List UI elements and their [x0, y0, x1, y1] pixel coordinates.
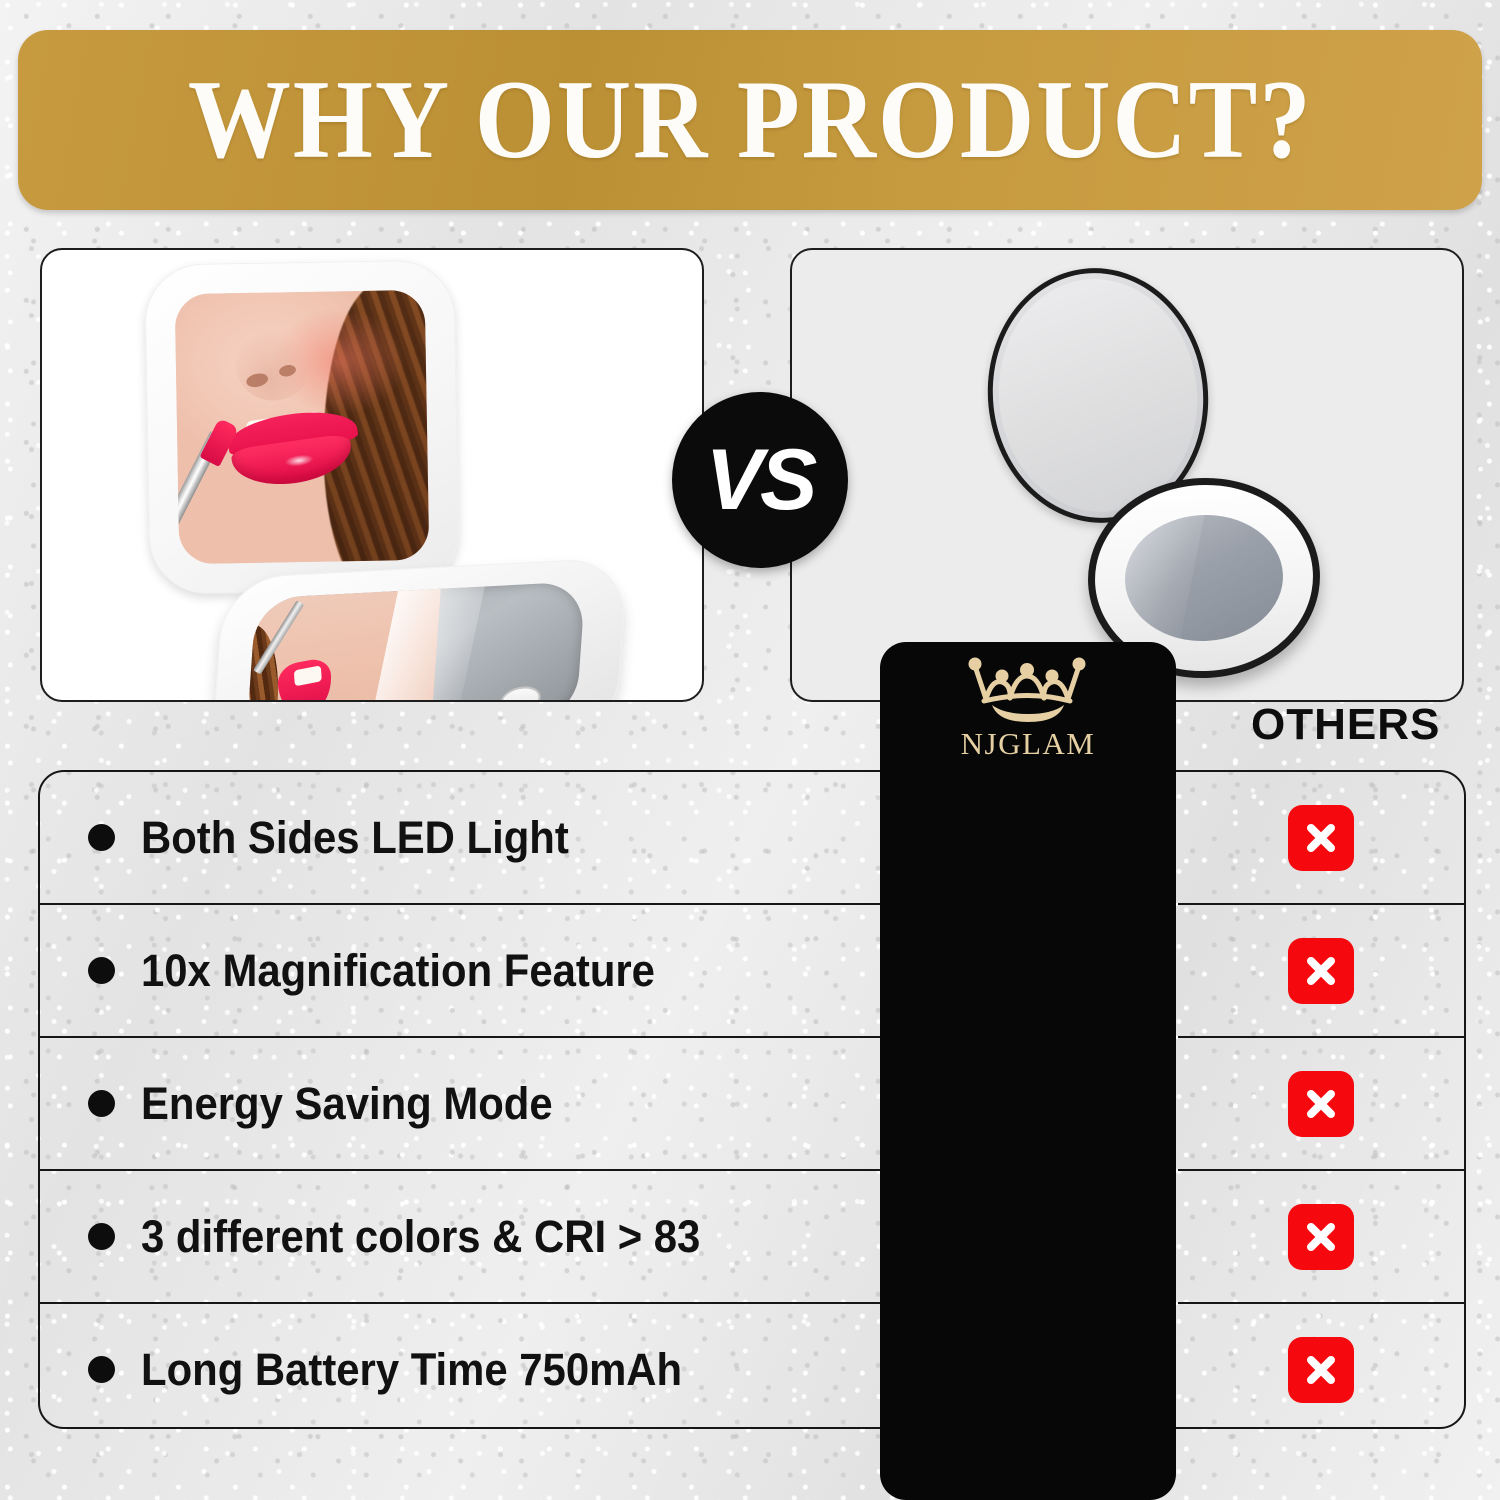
feature-label: Both Sides LED Light — [141, 812, 569, 864]
competitor-glass-glare — [1122, 511, 1206, 645]
feature-label: 10x Magnification Feature — [141, 945, 655, 997]
competitor-product-card — [790, 248, 1464, 702]
page-title: WHY OUR PRODUCT? — [188, 64, 1313, 176]
feature-label: Energy Saving Mode — [141, 1078, 553, 1130]
header-banner: WHY OUR PRODUCT? — [18, 30, 1482, 210]
versus-label: VS — [706, 437, 815, 523]
feature-cell: 3 different colors & CRI > 83 — [40, 1211, 840, 1263]
bullet-dot-icon — [88, 1223, 115, 1250]
mirror-base — [211, 557, 628, 702]
table-row: 3 different colors & CRI > 83 — [40, 1171, 1464, 1304]
cross-icon — [1288, 1204, 1354, 1270]
versus-badge: VS — [672, 392, 848, 568]
cross-icon — [1288, 805, 1354, 871]
theirs-cell — [1178, 1071, 1464, 1137]
theirs-cell — [1178, 1204, 1464, 1270]
brand-column-ours: NJGLAM — [880, 642, 1176, 1500]
face-lips — [227, 413, 358, 483]
cross-icon — [1288, 1071, 1354, 1137]
mirror-lid-glass — [175, 290, 430, 564]
crown-icon — [962, 652, 1094, 724]
table-row: Long Battery Time 750mAh — [40, 1304, 1464, 1435]
cross-icon — [1288, 938, 1354, 1004]
table-row: Energy Saving Mode — [40, 1038, 1464, 1171]
bullet-dot-icon — [88, 1090, 115, 1117]
theirs-cell — [1178, 1337, 1464, 1403]
infographic-page: WHY OUR PRODUCT? — [0, 0, 1500, 1500]
others-column-label: OTHERS — [1251, 700, 1471, 750]
bullet-dot-icon — [88, 824, 115, 851]
brand-column-header: NJGLAM — [880, 642, 1176, 772]
comparison-table: Both Sides LED Light 10x Magnification F… — [38, 770, 1466, 1429]
bullet-dot-icon — [88, 957, 115, 984]
feature-cell: 10x Magnification Feature — [40, 945, 840, 997]
reflected-face — [175, 290, 430, 564]
feature-cell: Both Sides LED Light — [40, 812, 840, 864]
brand-name: NJGLAM — [961, 726, 1096, 762]
competitor-base-glass — [1122, 511, 1286, 645]
mirror-lid — [144, 259, 460, 594]
our-product-illustration — [42, 250, 702, 700]
feature-label: 3 different colors & CRI > 83 — [141, 1211, 700, 1263]
feature-label: Long Battery Time 750mAh — [141, 1344, 682, 1396]
theirs-cell — [1178, 938, 1464, 1004]
feature-cell: Energy Saving Mode — [40, 1078, 840, 1130]
theirs-cell — [1178, 805, 1464, 871]
feature-cell: Long Battery Time 750mAh — [40, 1344, 840, 1396]
competitor-illustration — [792, 250, 1462, 700]
mirror-base-glass — [246, 581, 585, 702]
table-row: 10x Magnification Feature — [40, 905, 1464, 1038]
table-row: Both Sides LED Light — [40, 772, 1464, 905]
our-product-card — [40, 248, 704, 702]
cross-icon — [1288, 1337, 1354, 1403]
bullet-dot-icon — [88, 1356, 115, 1383]
